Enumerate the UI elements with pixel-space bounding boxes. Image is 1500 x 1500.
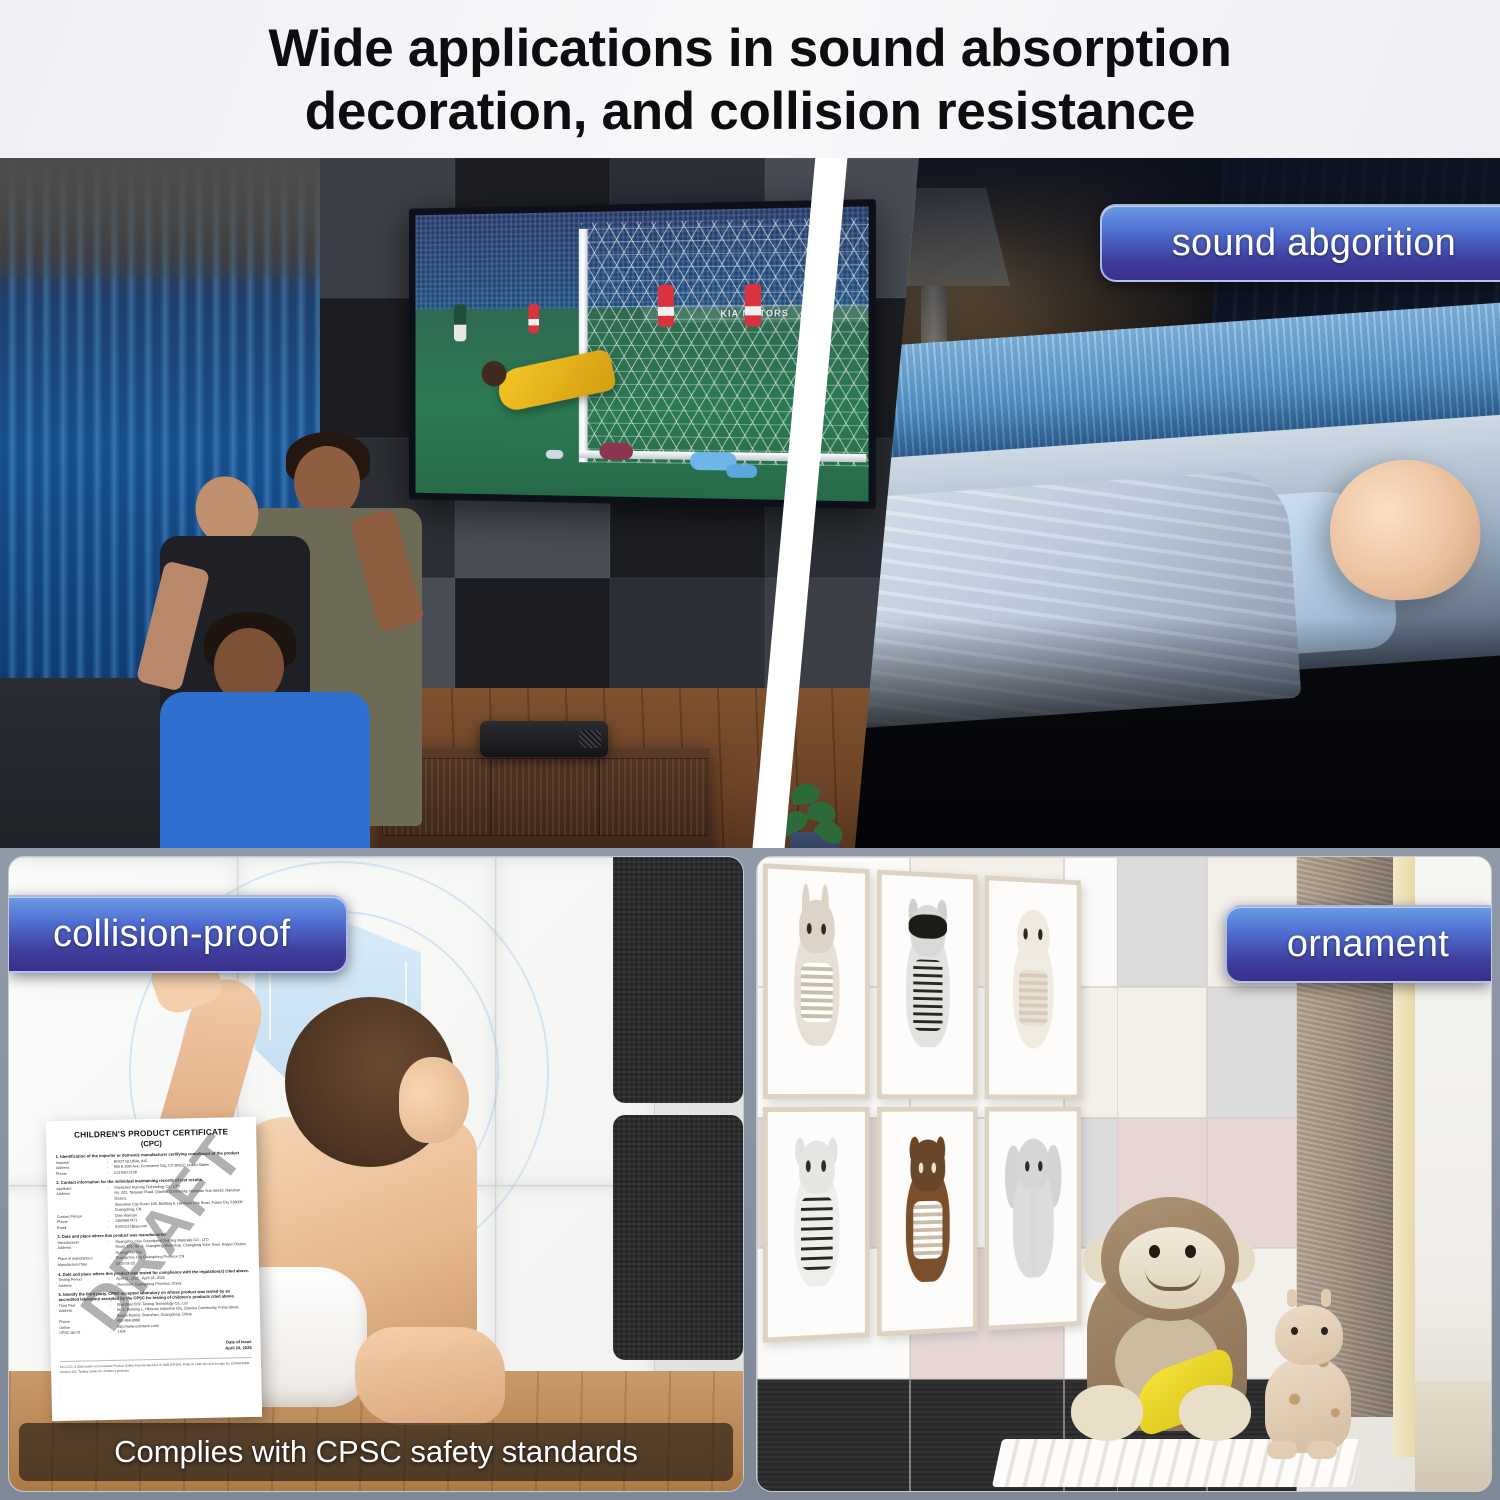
person-seated (160, 628, 370, 848)
elephant-illustration (1006, 1139, 1060, 1297)
poster-frame-bear-brown (877, 1107, 978, 1337)
poster-frame-raccoon (877, 870, 978, 1100)
cpc-certificate-document: CHILDREN'S PRODUCT CERTIFICATE (CPC) 1. … (46, 1117, 262, 1421)
bottom-panel-row: CHILDREN'S PRODUCT CERTIFICATE (CPC) 1. … (0, 848, 1500, 1500)
poster-frame-bear-white (763, 1107, 869, 1343)
dark-acoustic-panel (613, 1115, 743, 1360)
badge-sound-absorption[interactable]: sound abgorition (1100, 204, 1500, 282)
owl-illustration (1006, 909, 1060, 1067)
badge-ornament[interactable]: ornament (1225, 905, 1491, 983)
certificate-footnote: 16 U.S.C. § 2063 and/or as Consumer Prod… (60, 1357, 252, 1374)
poster-frame-rabbit (763, 863, 869, 1099)
badge-ornament-label: ornament (1287, 923, 1449, 966)
goal-post (579, 229, 588, 462)
pitch-object (599, 442, 633, 459)
white-bear-illustration (787, 1141, 847, 1308)
pitch-object (727, 464, 758, 478)
header-banner: Wide applications in sound absorption de… (0, 0, 1500, 158)
panel-ornament: ornament (756, 856, 1492, 1492)
cpsc-caption-bar: Complies with CPSC safety standards (19, 1423, 733, 1481)
rabbit-illustration (787, 899, 847, 1066)
scene-shadow (800, 618, 1500, 848)
raccoon-illustration (899, 904, 956, 1066)
cpsc-caption-text: Complies with CPSC safety standards (114, 1434, 638, 1470)
panel-collision-proof: CHILDREN'S PRODUCT CERTIFICATE (CPC) 1. … (8, 856, 744, 1492)
soccer-player (745, 284, 761, 327)
certificate-issue-block: Date of Issue April 24, 2025 (60, 1339, 252, 1356)
product-infographic: Wide applications in sound absorption de… (0, 0, 1500, 1500)
badge-collision-proof-label: collision-proof (53, 913, 290, 956)
pitch-object (546, 450, 563, 459)
soccer-player (658, 285, 674, 327)
soccer-player (454, 304, 466, 341)
plush-giraffe-toy (1249, 1287, 1369, 1457)
animal-poster-grid (757, 863, 1086, 1343)
brown-bear-illustration (899, 1140, 956, 1302)
badge-collision-proof[interactable]: collision-proof (9, 895, 348, 973)
headline-line-1: Wide applications in sound absorption (80, 18, 1420, 81)
headline-line-2: decoration, and collision resistance (80, 81, 1420, 144)
tv-console-cabinet (380, 748, 710, 848)
top-panel-row: KIA MOTORS (0, 158, 1500, 848)
soccer-player (528, 303, 539, 333)
laser-projector (480, 721, 608, 757)
badge-sound-absorption-label: sound abgorition (1172, 222, 1456, 265)
dark-acoustic-panel (613, 857, 743, 1103)
page-title: Wide applications in sound absorption de… (80, 18, 1420, 143)
poster-frame-owl (985, 875, 1081, 1099)
